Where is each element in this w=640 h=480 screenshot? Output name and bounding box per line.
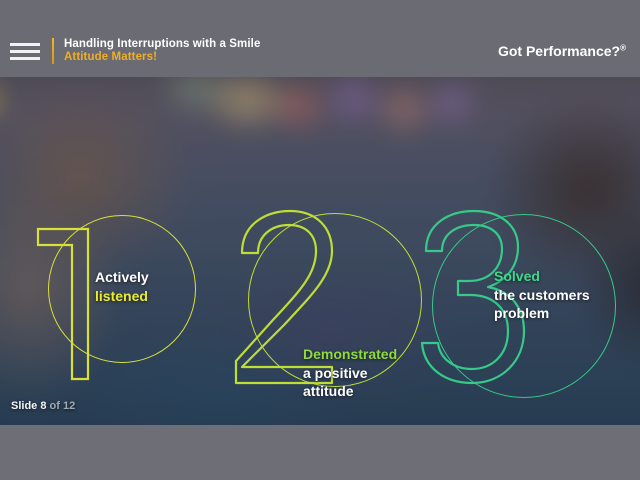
header-content: Handling Interruptions with a Smile Atti… — [0, 31, 640, 71]
header-bar: Handling Interruptions with a Smile Atti… — [0, 0, 640, 77]
footer-background — [0, 425, 640, 480]
step-3-rest-line1: the customers — [494, 286, 590, 305]
slide-counter-current: Slide 8 — [11, 400, 46, 412]
step-2-rest-line2: attitude — [303, 382, 397, 401]
brand-text: Got Performance? — [498, 43, 620, 59]
course-title: Handling Interruptions with a Smile — [64, 38, 498, 51]
slide-counter-total: of 12 — [50, 400, 76, 412]
step-1-lead: Actively — [95, 268, 149, 287]
header-divider — [52, 38, 54, 64]
hamburger-bar-1 — [10, 43, 40, 46]
hamburger-icon[interactable] — [10, 43, 40, 60]
step-1-rest: listened — [95, 287, 149, 306]
step-3-lead: Solved — [494, 267, 590, 286]
lesson-subtitle: Attitude Matters! — [64, 51, 498, 64]
registered-mark-icon: ® — [620, 43, 626, 52]
hamburger-bar-3 — [10, 57, 40, 60]
header-title-block: Handling Interruptions with a Smile Atti… — [64, 38, 498, 64]
slide-root: Actively listened Demonstrated a positiv… — [0, 0, 640, 480]
slide-background-photo: Actively listened Demonstrated a positiv… — [0, 77, 640, 425]
slide-counter: Slide 8 of 12 — [11, 400, 75, 412]
step-2-text: Demonstrated a positive attitude — [303, 345, 397, 401]
hamburger-bar-2 — [10, 50, 40, 53]
step-1-text: Actively listened — [95, 268, 149, 305]
step-2-rest-line1: a positive — [303, 364, 397, 383]
step-3-text: Solved the customers problem — [494, 267, 590, 323]
steps-group: Actively listened Demonstrated a positiv… — [0, 77, 640, 425]
step-3-rest-line2: problem — [494, 304, 590, 323]
step-2-lead: Demonstrated — [303, 345, 397, 364]
brand-logo: Got Performance?® — [498, 43, 626, 59]
